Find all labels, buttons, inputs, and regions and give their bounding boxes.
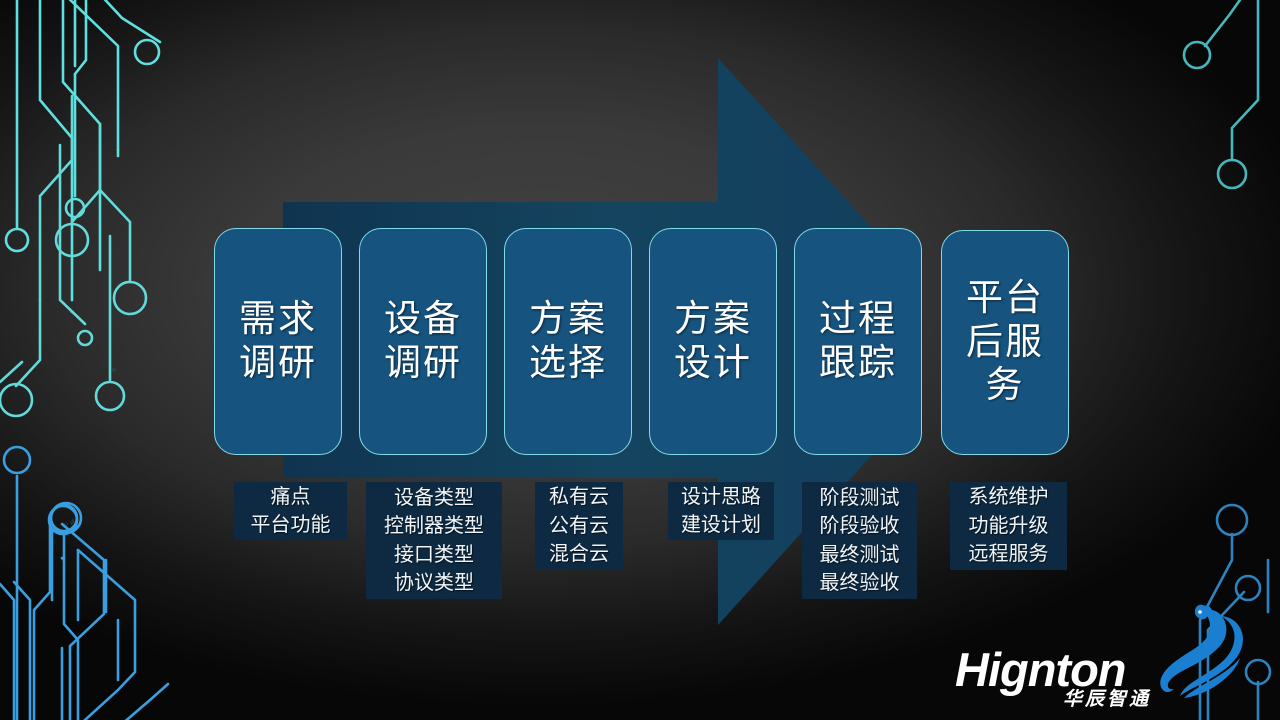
caption-box-2: 设备类型 控制器类型 接口类型 协议类型 [366, 482, 502, 599]
process-box-6-label: 平台 后服 务 [966, 277, 1044, 408]
process-box-6[interactable]: 平台 后服 务 [941, 230, 1069, 455]
process-box-4[interactable]: 方案 设计 [649, 228, 777, 455]
logo-chinese-name: 华辰智通 [1063, 684, 1151, 711]
process-box-4-label: 方案 设计 [674, 298, 752, 385]
company-logo: Hignton 华辰智通 [955, 612, 1255, 712]
caption-box-6-label: 系统维护 功能升级 远程服务 [969, 483, 1049, 568]
process-box-5-label: 过程 跟踪 [819, 298, 897, 385]
caption-box-3-label: 私有云 公有云 混合云 [549, 483, 609, 568]
antelope-icon [1150, 604, 1265, 704]
process-box-3[interactable]: 方案 选择 [504, 228, 632, 455]
slide-canvas: 需求 调研 设备 调研 方案 选择 方案 设计 过程 跟踪 平台 后服 务 痛点… [0, 0, 1280, 720]
caption-box-6: 系统维护 功能升级 远程服务 [950, 482, 1067, 570]
caption-box-5-label: 阶段测试 阶段验收 最终测试 最终验收 [820, 484, 900, 598]
caption-box-3: 私有云 公有云 混合云 [535, 482, 623, 570]
process-box-1-label: 需求 调研 [239, 298, 317, 385]
process-box-2[interactable]: 设备 调研 [359, 228, 487, 455]
caption-box-1: 痛点 平台功能 [234, 482, 347, 540]
process-box-2-label: 设备 调研 [384, 298, 462, 385]
caption-box-5: 阶段测试 阶段验收 最终测试 最终验收 [802, 482, 917, 599]
caption-box-4: 设计思路 建设计划 [668, 482, 774, 540]
process-box-3-label: 方案 选择 [529, 298, 607, 385]
process-box-5[interactable]: 过程 跟踪 [794, 228, 922, 455]
process-box-1[interactable]: 需求 调研 [214, 228, 342, 455]
caption-box-2-label: 设备类型 控制器类型 接口类型 协议类型 [384, 484, 484, 598]
caption-box-4-label: 设计思路 建设计划 [681, 483, 761, 540]
caption-box-1-label: 痛点 平台功能 [251, 483, 331, 540]
